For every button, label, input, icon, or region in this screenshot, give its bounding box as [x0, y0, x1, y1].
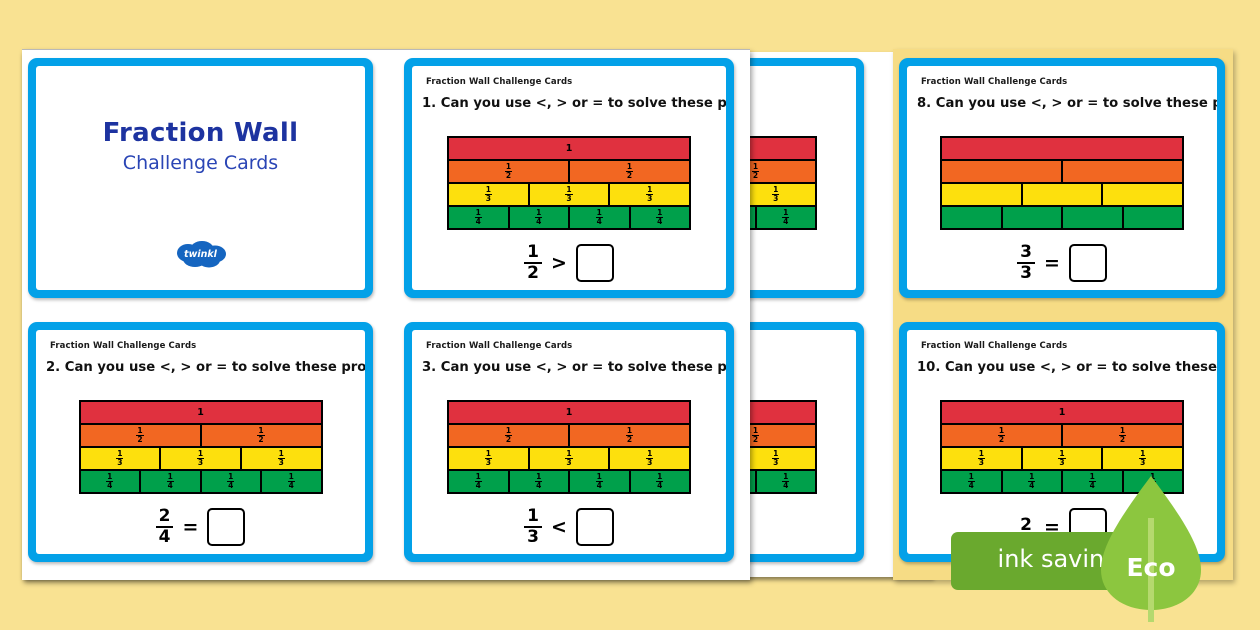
wall-cell: 14: [568, 471, 629, 492]
frac-denominator: 3: [1058, 459, 1065, 467]
partial-card-top-inner: these problems? 12 12 13 13 13 14 14 14 …: [742, 66, 856, 290]
card-kicker: Fraction Wall Challenge Cards: [426, 77, 572, 87]
frac-denominator: 4: [782, 218, 789, 226]
frac-denominator: 4: [782, 482, 789, 490]
frac-denominator: 2: [998, 436, 1005, 444]
wall-cell: [942, 161, 1061, 182]
wall-cell: [1061, 161, 1182, 182]
card-3-inner: Fraction Wall Challenge Cards 3. Can you…: [412, 330, 726, 554]
wall-cell: 1: [81, 402, 321, 423]
card-equation: 2 4 =: [36, 508, 365, 546]
frac-denominator: 4: [968, 482, 975, 490]
card-question: 2. Can you use <, > or = to solve these …: [46, 360, 359, 375]
wall-row-whole: 1: [449, 402, 689, 423]
wall-cell: 12: [568, 425, 689, 446]
wall-row-quarters: 14 14 14 14: [742, 205, 815, 228]
wall-cell: [942, 184, 1021, 205]
wall-row-halves: 12 12: [942, 423, 1182, 446]
wall-row-thirds: 13 13 13: [449, 182, 689, 205]
frac-denominator: 2: [752, 436, 759, 444]
leaf-icon: Eco: [1095, 474, 1207, 622]
wall-row-thirds: [942, 182, 1182, 205]
equation-operator: >: [551, 252, 567, 274]
frac-denominator: 4: [535, 218, 542, 226]
wall-cell: 12: [449, 161, 568, 182]
card-kicker: Fraction Wall Challenge Cards: [426, 341, 572, 351]
frac-denominator: 3: [485, 195, 492, 203]
wall-row-quarters: 14 14 14 14: [449, 205, 689, 228]
wall-cell: 13: [240, 448, 321, 469]
wall-cell: 14: [755, 471, 816, 492]
wall-cell: [1101, 184, 1182, 205]
frac-denominator: 4: [227, 482, 234, 490]
equation-operator: =: [182, 516, 198, 538]
wall-cell: 12: [449, 425, 568, 446]
wall-cell: 12: [942, 425, 1061, 446]
fraction-wall: 1 12 12 13 13 13 14 14 14 14: [447, 136, 691, 230]
equation-operator: =: [1044, 252, 1060, 274]
frac-denominator: 4: [656, 218, 663, 226]
equation-numerator: 1: [524, 244, 542, 263]
frac-denominator: 4: [106, 482, 113, 490]
fraction-wall: 1 12 12 13 13 13 14 14 14 14: [447, 400, 691, 494]
wall-cell: [1061, 207, 1122, 228]
equation-denominator: 3: [524, 528, 542, 546]
wall-row-quarters: 14 14 14 14: [742, 469, 815, 492]
card-cover-inner: Fraction Wall Challenge Cards twinkl: [36, 66, 365, 290]
wall-row-thirds: 13 13 13: [81, 446, 321, 469]
frac-denominator: 4: [656, 482, 663, 490]
wall-cell: 14: [508, 471, 569, 492]
equation-denominator: 2: [524, 264, 542, 282]
whole-label: 1: [197, 407, 204, 418]
partial-card-top-question: these problems?: [742, 96, 850, 111]
fraction-wall: [940, 136, 1184, 230]
answer-box[interactable]: [1069, 244, 1107, 282]
equation-numerator: 2: [156, 508, 174, 527]
leaf-shape-icon: [1095, 474, 1207, 622]
wall-cell: [942, 138, 1182, 159]
wall-cell: [742, 402, 815, 423]
wall-cell: 12: [568, 161, 689, 182]
twinkl-wordmark: twinkl: [175, 240, 227, 268]
wall-cell: 14: [449, 207, 508, 228]
partial-card-bottom-question: these problems?: [742, 360, 850, 375]
answer-box[interactable]: [207, 508, 245, 546]
wall-cell: 13: [449, 448, 528, 469]
frac-denominator: 2: [626, 436, 633, 444]
frac-denominator: 3: [1139, 459, 1146, 467]
wall-cell: 14: [942, 471, 1001, 492]
wall-row-whole: [742, 138, 815, 159]
frac-denominator: 2: [626, 172, 633, 180]
frac-denominator: 3: [565, 195, 572, 203]
eco-label: Eco: [1095, 553, 1207, 582]
wall-row-halves: 12 12: [449, 159, 689, 182]
wall-row-quarters: 14 14 14 14: [449, 469, 689, 492]
fraction-wall: 12 12 13 13 13 14 14 14 14: [742, 136, 817, 230]
wall-cell: 14: [568, 207, 629, 228]
whole-label: 1: [566, 407, 573, 418]
frac-denominator: 3: [772, 195, 779, 203]
wall-row-quarters: 14 14 14 14: [81, 469, 321, 492]
card-kicker: Fraction Wall Challenge Cards: [921, 341, 1067, 351]
frac-denominator: 3: [978, 459, 985, 467]
wall-cell: 13: [942, 448, 1021, 469]
answer-box[interactable]: [576, 508, 614, 546]
card-equation: 1 2 >: [412, 244, 726, 282]
wall-cell: 13: [528, 448, 609, 469]
frac-denominator: 2: [505, 436, 512, 444]
card-1[interactable]: Fraction Wall Challenge Cards 1. Can you…: [404, 58, 734, 298]
frac-denominator: 4: [167, 482, 174, 490]
ink-saving-eco-badge: ink saving Eco: [951, 532, 1214, 592]
wall-cell: [1021, 184, 1102, 205]
wall-cell: 1: [449, 402, 689, 423]
frac-denominator: 3: [565, 459, 572, 467]
wall-cell: [742, 138, 815, 159]
wall-cell: 1: [942, 402, 1182, 423]
wall-row-whole: [742, 402, 815, 423]
frac-denominator: 3: [197, 459, 204, 467]
wall-row-thirds: 13 13 13: [742, 182, 815, 205]
partial-card-top[interactable]: these problems? 12 12 13 13 13 14 14 14 …: [742, 58, 864, 298]
wall-row-halves: 12 12: [449, 423, 689, 446]
wall-cell: 14: [1001, 471, 1062, 492]
wall-cell: 14: [755, 207, 816, 228]
wall-cell: 14: [449, 471, 508, 492]
card-2[interactable]: Fraction Wall Challenge Cards 2. Can you…: [28, 322, 373, 562]
partial-card-bottom[interactable]: these problems? 12 12 13 13 13 14 14 14 …: [742, 322, 864, 562]
frac-denominator: 2: [505, 172, 512, 180]
frac-denominator: 3: [278, 459, 285, 467]
card-cover-title[interactable]: Fraction Wall Challenge Cards twinkl: [28, 58, 373, 298]
wall-cell: 12: [81, 425, 200, 446]
fraction-wall: 12 12 13 13 13 14 14 14 14: [742, 400, 817, 494]
card-8-inner: Fraction Wall Challenge Cards 8. Can you…: [907, 66, 1217, 290]
frac-denominator: 4: [535, 482, 542, 490]
equation-denominator: 3: [1017, 264, 1035, 282]
wall-row-whole: 1: [942, 402, 1182, 423]
wall-row-halves: 12 12: [742, 159, 815, 182]
frac-denominator: 4: [475, 482, 482, 490]
card-2-inner: Fraction Wall Challenge Cards 2. Can you…: [36, 330, 365, 554]
card-question: 3. Can you use <, > or = to solve these …: [422, 360, 720, 375]
wall-row-thirds: 13 13 13: [942, 446, 1182, 469]
equation-numerator: 1: [524, 508, 542, 527]
wall-cell: 14: [81, 471, 140, 492]
wall-cell: 14: [629, 471, 690, 492]
wall-row-quarters: [942, 205, 1182, 228]
card-kicker: Fraction Wall Challenge Cards: [921, 77, 1067, 87]
frac-denominator: 3: [646, 459, 653, 467]
wall-cell: 13: [528, 184, 609, 205]
card-equation: 1 3 <: [412, 508, 726, 546]
wall-cell: 13: [1021, 448, 1102, 469]
wall-cell: 13: [159, 448, 240, 469]
wall-cell: 13: [1101, 448, 1182, 469]
wall-row-thirds: 13 13 13: [449, 446, 689, 469]
answer-box[interactable]: [576, 244, 614, 282]
card-equation: 3 3 =: [907, 244, 1217, 282]
wall-cell: 14: [260, 471, 321, 492]
card-question: 1. Can you use <, > or = to solve these …: [422, 96, 720, 111]
wall-cell: 13: [742, 184, 815, 205]
wall-cell: 13: [742, 448, 815, 469]
wall-cell: [1122, 207, 1183, 228]
equation-fraction: 2 4: [156, 508, 174, 546]
whole-label: 1: [566, 143, 573, 154]
wall-row-whole: 1: [449, 138, 689, 159]
wall-row-halves: 12 12: [81, 423, 321, 446]
wall-cell: 12: [742, 425, 815, 446]
card-1-inner: Fraction Wall Challenge Cards 1. Can you…: [412, 66, 726, 290]
wall-cell: 14: [629, 207, 690, 228]
whole-label: 1: [1059, 407, 1066, 418]
equation-denominator: 4: [156, 528, 174, 546]
frac-denominator: 2: [1119, 436, 1126, 444]
page-subtitle: Challenge Cards: [36, 152, 365, 174]
wall-cell: 13: [81, 448, 160, 469]
page-title: Fraction Wall: [36, 118, 365, 148]
wall-cell: 1: [449, 138, 689, 159]
frac-denominator: 2: [752, 172, 759, 180]
frac-denominator: 2: [257, 436, 264, 444]
wall-row-whole: [942, 138, 1182, 159]
wall-row-thirds: 13 13 13: [742, 446, 815, 469]
equation-fraction: 1 2: [524, 244, 542, 282]
wall-cell: 12: [200, 425, 321, 446]
wall-row-whole: 1: [81, 402, 321, 423]
fraction-wall: 1 12 12 13 13 13 14 14 14 14: [79, 400, 323, 494]
card-question: 8. Can you use <, > or = to solve these …: [917, 96, 1211, 111]
frac-denominator: 4: [288, 482, 295, 490]
wall-row-halves: 12 12: [742, 423, 815, 446]
cover-title-block: Fraction Wall Challenge Cards: [36, 118, 365, 174]
wall-cell: 12: [1061, 425, 1182, 446]
card-kicker: Fraction Wall Challenge Cards: [50, 341, 196, 351]
card-question: 10. Can you use <, > or = to solve these…: [917, 360, 1211, 375]
wall-cell: 14: [200, 471, 261, 492]
frac-denominator: 3: [116, 459, 123, 467]
wall-row-halves: [942, 159, 1182, 182]
frac-denominator: 4: [596, 218, 603, 226]
wall-cell: 13: [608, 184, 689, 205]
frac-denominator: 4: [1028, 482, 1035, 490]
frac-denominator: 3: [646, 195, 653, 203]
frac-denominator: 4: [475, 218, 482, 226]
wall-cell: [942, 207, 1001, 228]
frac-denominator: 3: [772, 459, 779, 467]
equation-fraction: 1 3: [524, 508, 542, 546]
twinkl-cloud-logo: twinkl: [175, 240, 227, 268]
card-8[interactable]: Fraction Wall Challenge Cards 8. Can you…: [899, 58, 1225, 298]
wall-cell: 13: [608, 448, 689, 469]
wall-cell: 12: [742, 161, 815, 182]
card-3[interactable]: Fraction Wall Challenge Cards 3. Can you…: [404, 322, 734, 562]
frac-denominator: 3: [485, 459, 492, 467]
frac-denominator: 2: [136, 436, 143, 444]
wall-cell: 14: [508, 207, 569, 228]
frac-denominator: 4: [596, 482, 603, 490]
wall-cell: 14: [139, 471, 200, 492]
equation-fraction: 3 3: [1017, 244, 1035, 282]
partial-card-bottom-inner: these problems? 12 12 13 13 13 14 14 14 …: [742, 330, 856, 554]
equation-operator: <: [551, 516, 567, 538]
wall-cell: 13: [449, 184, 528, 205]
equation-numerator: 3: [1017, 244, 1035, 263]
wall-cell: [1001, 207, 1062, 228]
